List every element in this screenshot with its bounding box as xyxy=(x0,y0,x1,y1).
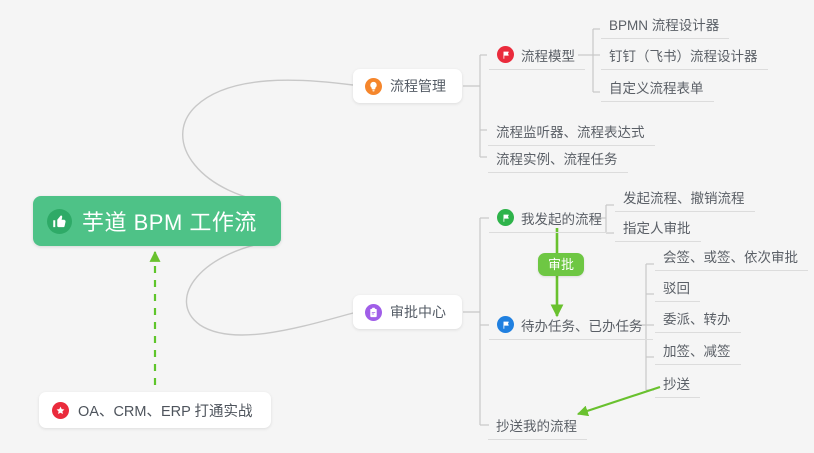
node-add-remove-sign[interactable]: 加签、减签 xyxy=(655,335,741,365)
node-custom-process-form[interactable]: 自定义流程表单 xyxy=(601,72,714,102)
approval-annotation-label: 审批 xyxy=(548,257,574,272)
node-cc-to-me-process[interactable]: 抄送我的流程 xyxy=(488,410,587,440)
node-label-my-started-process: 我发起的流程 xyxy=(521,208,602,228)
node-process-instance-task[interactable]: 流程实例、流程任务 xyxy=(488,143,628,173)
flag-icon xyxy=(497,316,514,333)
arrow-cc-flow xyxy=(578,387,660,414)
connector-root-to-process-management xyxy=(183,80,353,204)
branch-node-process-management[interactable]: 流程管理 xyxy=(353,69,462,103)
flag-icon xyxy=(497,46,514,63)
node-label-todo-done-tasks: 待办任务、已办任务 xyxy=(521,315,643,335)
node-reject[interactable]: 驳回 xyxy=(655,272,700,302)
node-start-cancel-process[interactable]: 发起流程、撤销流程 xyxy=(615,182,755,212)
node-todo-done-tasks[interactable]: 待办任务、已办任务 xyxy=(489,310,653,340)
node-assignee-approval[interactable]: 指定人审批 xyxy=(615,212,701,242)
node-delegate-transfer[interactable]: 委派、转办 xyxy=(655,303,741,333)
node-label-delegate-transfer: 委派、转办 xyxy=(663,308,731,328)
node-process-model[interactable]: 流程模型 xyxy=(489,40,585,70)
node-label-bpmn-designer: BPMN 流程设计器 xyxy=(609,14,719,34)
node-label-countersign-orsign-sequential: 会签、或签、依次审批 xyxy=(663,246,798,266)
node-countersign-orsign-sequential[interactable]: 会签、或签、依次审批 xyxy=(655,241,808,271)
mindmap-canvas: 芋道 BPM 工作流 流程管理 流程模型 BPMN 流程设计器 钉钉（飞书）流程… xyxy=(0,0,814,453)
node-process-listener-expression[interactable]: 流程监听器、流程表达式 xyxy=(488,116,655,146)
connector-root-to-approval-center xyxy=(186,240,353,335)
node-label-dingtalk-feishu-designer: 钉钉（飞书）流程设计器 xyxy=(609,45,758,65)
branch-node-approval-center[interactable]: 审批中心 xyxy=(353,295,462,329)
node-label-custom-process-form: 自定义流程表单 xyxy=(609,77,704,97)
node-label-cc-to-me-process: 抄送我的流程 xyxy=(496,415,577,435)
node-my-started-process[interactable]: 我发起的流程 xyxy=(489,203,612,233)
note-node-integration[interactable]: OA、CRM、ERP 打通实战 xyxy=(39,392,271,428)
node-carbon-copy[interactable]: 抄送 xyxy=(655,368,700,398)
approval-annotation-chip: 审批 xyxy=(538,253,584,276)
branch-label-approval-center: 审批中心 xyxy=(390,302,446,322)
node-label-add-remove-sign: 加签、减签 xyxy=(663,340,731,360)
branch-label-process-management: 流程管理 xyxy=(390,76,446,96)
node-label-process-model: 流程模型 xyxy=(521,45,575,65)
lightbulb-icon xyxy=(365,78,382,95)
node-label-process-instance-task: 流程实例、流程任务 xyxy=(496,148,618,168)
node-label-assignee-approval: 指定人审批 xyxy=(623,217,691,237)
node-label-reject: 驳回 xyxy=(663,277,690,297)
clipboard-icon xyxy=(365,304,382,321)
star-icon xyxy=(52,402,69,419)
node-bpmn-designer[interactable]: BPMN 流程设计器 xyxy=(601,9,729,39)
node-label-start-cancel-process: 发起流程、撤销流程 xyxy=(623,187,745,207)
flag-icon xyxy=(497,209,514,226)
thumbs-up-icon xyxy=(47,209,72,234)
node-label-process-listener-expression: 流程监听器、流程表达式 xyxy=(496,121,645,141)
node-label-carbon-copy: 抄送 xyxy=(663,373,690,393)
note-label-integration: OA、CRM、ERP 打通实战 xyxy=(78,400,253,421)
node-dingtalk-feishu-designer[interactable]: 钉钉（飞书）流程设计器 xyxy=(601,40,768,70)
root-label: 芋道 BPM 工作流 xyxy=(82,205,257,237)
root-node[interactable]: 芋道 BPM 工作流 xyxy=(33,196,281,246)
